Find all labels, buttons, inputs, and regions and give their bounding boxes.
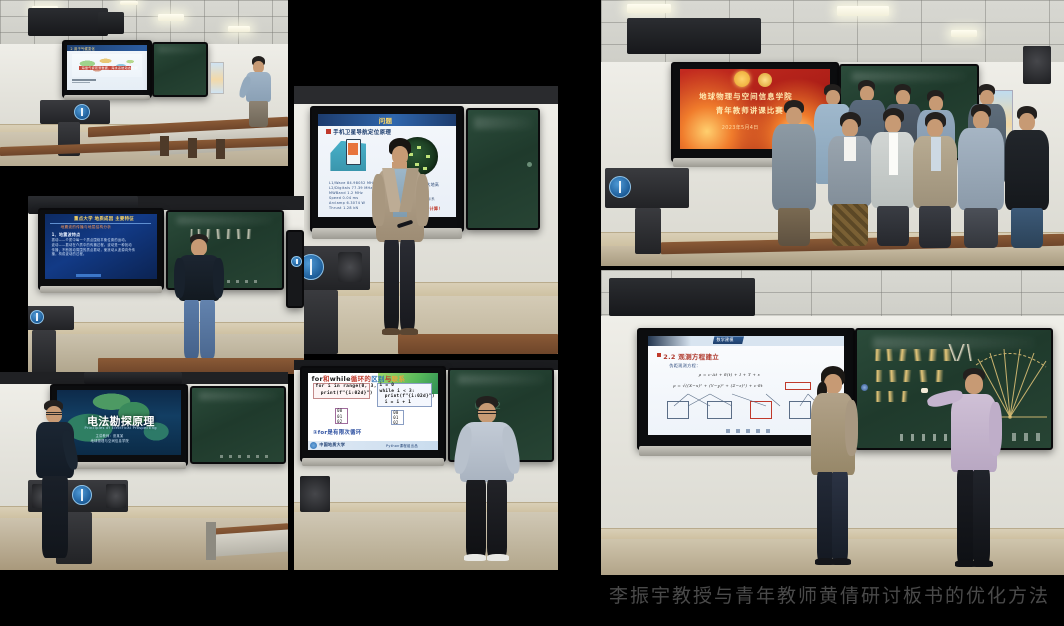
chair <box>216 139 225 159</box>
slide-surface: 重点大学 地质成因 主要特征 地震波的传播与地层结构分析 1、地震波特点 振动—… <box>45 214 157 280</box>
presenter-figure <box>240 56 276 122</box>
presenter-figure <box>456 396 518 562</box>
slide-surface: for和while循环的区别与联系 for i in range(0, 3, 1… <box>308 373 439 450</box>
photo-blue-slide-presenter[interactable]: 重点大学 地质成因 主要特征 地震波的传播与地层结构分析 1、地震波特点 振动—… <box>28 196 304 374</box>
group-member <box>826 112 874 246</box>
university-emblem-icon <box>30 310 44 324</box>
chalk-piece <box>921 388 928 393</box>
chair <box>188 138 197 158</box>
professor-figure <box>949 368 1001 568</box>
output-value: 00 <box>393 410 398 415</box>
code-while-line1: i = 0 <box>380 383 395 388</box>
interactive-display-left[interactable]: 2 用于气候变化 海量气候观测数据，海水系统动态监测 <box>62 40 152 98</box>
photo-female-presenter[interactable]: 问题 手机卫星导航定位原理 L1/Wave 84.98052 MHz <box>294 86 558 354</box>
slide-note: ①for是有限次循环 <box>313 428 362 436</box>
wall-poster <box>210 62 224 94</box>
chalkboard-right[interactable] <box>466 108 540 230</box>
group-member <box>770 100 818 246</box>
group-member <box>1003 106 1051 246</box>
slide-surface: 2 用于气候变化 海量气候观测数据，海水系统动态监测 <box>67 45 146 90</box>
interactive-display-left[interactable]: 重点大学 地质成因 主要特征 地震波的传播与地层结构分析 1、地震波特点 振动—… <box>38 208 164 290</box>
slide-data-line: MWBand 1.2 MHz <box>329 191 363 195</box>
university-emblem-icon <box>609 176 631 198</box>
ceiling-soffit <box>98 12 124 34</box>
slide-bullet: 手机卫星导航定位原理 <box>333 128 391 136</box>
slide-subtitle: 地震波的传播与地层结构分析 <box>61 225 112 230</box>
output-value: 00 <box>337 408 342 413</box>
presenter-figure <box>372 138 430 338</box>
slide-data-line: Thrust 1.28 kN <box>329 206 358 210</box>
photo-blackboard-discussion[interactable]: 数学建模 2.2 观测方程建立 伪距观测方程： ρ = c·Δt + δ(t) … <box>601 270 1064 575</box>
code-for-line2: print(f"{i:02d}") <box>321 391 373 396</box>
collage-caption: 李振宇教授与青年教师黄倩研讨板书的优化方法 <box>609 581 1050 608</box>
slide-footer-left: 中国地质大学 <box>319 442 345 448</box>
output-value: 01 <box>337 414 342 419</box>
side-display[interactable] <box>286 230 304 308</box>
slide-title: for和while循环的区别与联系 <box>312 373 406 383</box>
lectern-column <box>32 330 56 374</box>
slide-title: 2 用于气候变化 <box>70 46 95 51</box>
photo-collage: 2 用于气候变化 海量气候观测数据，海水系统动态监测 <box>0 0 1064 626</box>
slide-affiliation: 地球物理与空间信息学院 <box>91 438 129 443</box>
glasses-icon <box>477 410 497 414</box>
slide-title: 问题 <box>379 115 393 125</box>
interactive-display-left[interactable]: for和while循环的区别与联系 for i in range(0, 3, 1… <box>300 366 446 462</box>
university-emblem-icon <box>291 256 302 267</box>
slide-data-line: Arclamp 6.3074 W <box>329 201 365 205</box>
slide-banner: 海量气候观测数据，海水系统动态监测 <box>82 66 138 70</box>
slide-data-line: L2/Digitals 77.39 MHz <box>329 186 372 190</box>
group-member <box>956 104 1006 246</box>
speaker-grille <box>300 476 330 512</box>
chalkboard-right[interactable] <box>152 42 208 97</box>
ceiling-soffit <box>28 8 108 36</box>
university-emblem-icon <box>74 104 90 120</box>
lectern-column <box>298 290 338 354</box>
photo-lecture-hall-wide[interactable]: 2 用于气候变化 海量气候观测数据，海水系统动态监测 <box>0 0 288 166</box>
ceiling-soffit <box>609 278 755 316</box>
output-value: 01 <box>393 415 398 420</box>
young-teacher-figure <box>809 366 859 566</box>
slide-data-line: L1/Wave 84.98052 MHz <box>329 181 375 185</box>
slide-body-line: 播，构成波动的过程。 <box>52 251 87 256</box>
photo-electrical-prospecting[interactable]: 电法勘探原理 Principles of Electrical Prospect… <box>0 372 288 570</box>
wall-speaker <box>1023 46 1051 84</box>
lectern-column <box>635 208 661 254</box>
chalkboard-right[interactable] <box>190 386 286 464</box>
group-member <box>911 112 959 246</box>
board-power-icon[interactable] <box>861 384 868 391</box>
photo-group-portrait[interactable]: 地球物理与空间信息学院 青年教师讲课比赛 2023年5月4日 <box>601 0 1064 266</box>
group-member <box>869 108 917 246</box>
output-value: 02 <box>393 420 398 425</box>
slide-data-line: Speed 0.04 ms <box>329 196 358 200</box>
slide-footer-right: Python课程组出品 <box>386 443 418 448</box>
photo-python-loops[interactable]: for和while循环的区别与联系 for i in range(0, 3, 1… <box>294 360 558 570</box>
chair <box>206 522 216 560</box>
output-value: 02 <box>337 419 342 424</box>
speaker-grille <box>338 252 362 282</box>
presenter-figure <box>174 234 224 360</box>
speaker-grille <box>106 484 126 508</box>
presenter-figure <box>34 400 78 560</box>
code-while-line4: i = i + 1 <box>385 400 412 405</box>
glasses-icon <box>46 412 62 415</box>
code-while-line3: print(f"{i:02d}") <box>385 394 435 399</box>
chair <box>160 136 169 156</box>
ceiling-soffit <box>84 372 182 384</box>
ceiling-soffit <box>627 18 761 54</box>
slide-header: 重点大学 地质成因 主要特征 <box>74 216 134 222</box>
slide-subtitle-en: Principles of Electrical Prospecting <box>84 426 156 430</box>
banner-date: 2023年5月4日 <box>722 124 759 131</box>
